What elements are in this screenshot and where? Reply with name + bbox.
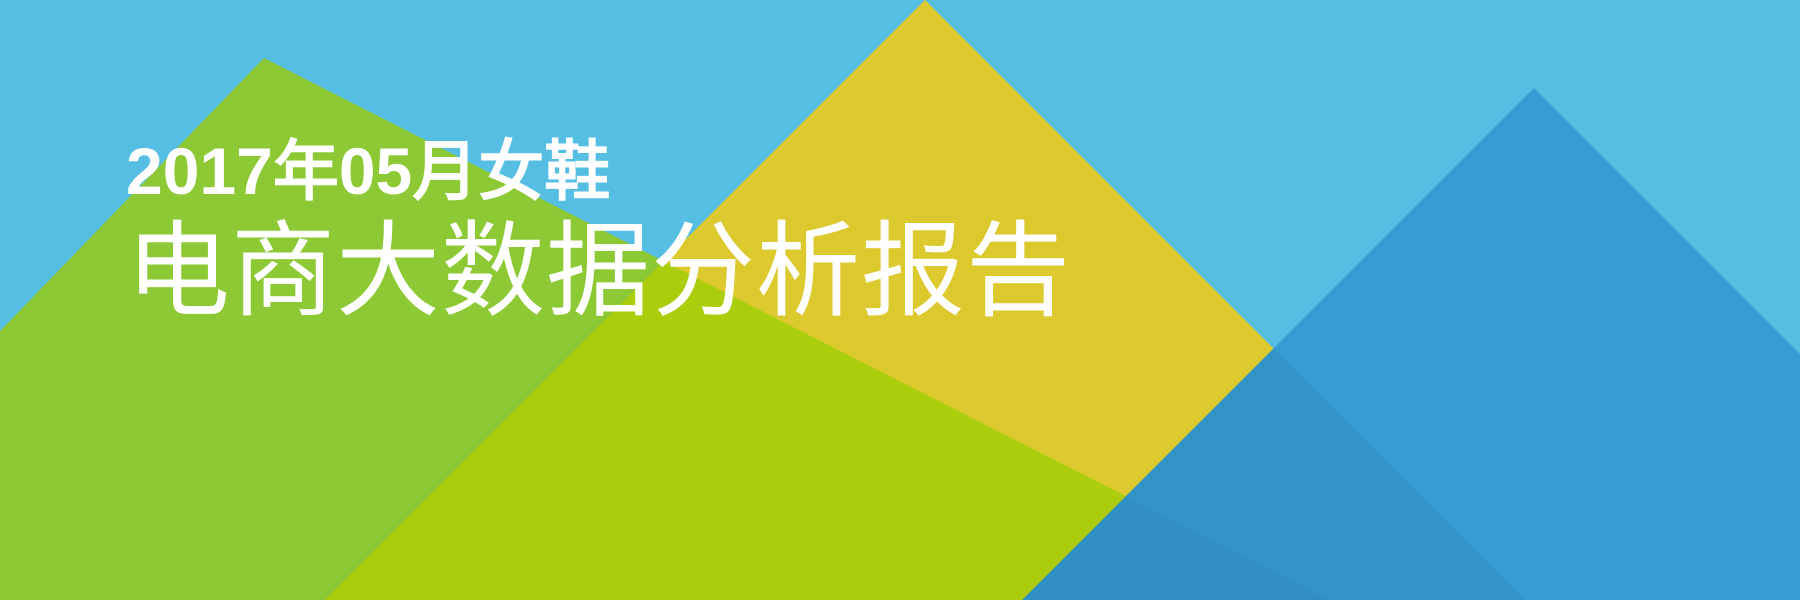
background-artwork — [0, 0, 1800, 600]
report-cover-banner: 2017年05月女鞋 电商大数据分析报告 — [0, 0, 1800, 600]
